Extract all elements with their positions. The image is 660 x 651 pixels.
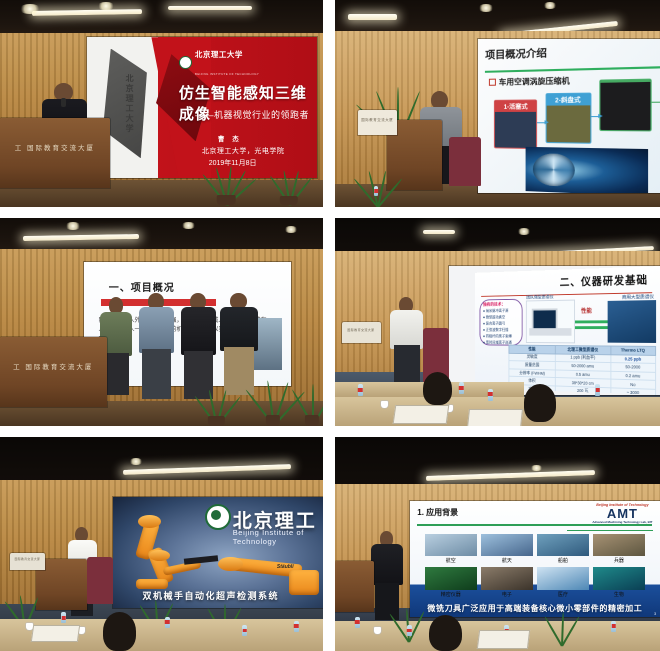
application-cell: 船舶	[537, 534, 589, 565]
water-bottle	[61, 612, 66, 623]
right-device-image	[608, 299, 656, 343]
ceiling	[0, 437, 323, 484]
application-cell: 航天	[481, 534, 533, 565]
bullet-square-icon	[489, 79, 496, 86]
audience-member	[423, 372, 452, 405]
photo-panel-3[interactable]: 一、项目概况 阿尔法机器人外骨骼助力增强，能够帮助穿戴人承担一种穿戴在人身上，和…	[0, 218, 323, 426]
photo-panel-4[interactable]: 二、仪器研发基础 独有的技术： 纳米脉冲离子源 微型超动真空 复合离子圆弓 正弦…	[335, 218, 660, 426]
plant-pot	[266, 415, 280, 426]
seal-icon	[205, 504, 231, 530]
application-cell: 精密仪器	[425, 567, 477, 598]
device-caption: 团队微型质谱仪	[526, 294, 553, 300]
tech-item: 复合离子圆弓	[483, 321, 522, 327]
water-bottle	[374, 186, 378, 196]
compressor-card-3-label: 3-螺杆式	[600, 79, 651, 83]
application-cell: 航空	[425, 534, 477, 565]
tech-item: 微型超动真空	[483, 314, 522, 320]
slide-rule-secondary	[567, 530, 652, 531]
compressor-card-3: 3-螺杆式	[599, 79, 652, 132]
venue-sign: 国际教育交流大厦	[358, 110, 397, 135]
table-cell: ~15公斤	[555, 394, 610, 395]
compressor-card-2-label: 2-斜盘式	[546, 94, 590, 106]
venue-sign-text: 工 国际教育交流大厦	[4, 142, 105, 152]
speaker-torso	[371, 544, 404, 585]
robot-base	[289, 570, 318, 594]
application-label: 电子	[481, 591, 533, 598]
device-base	[529, 328, 572, 335]
name-plate	[392, 405, 449, 424]
chair	[87, 557, 113, 604]
water-bottle	[488, 389, 493, 401]
person-torso	[139, 307, 175, 353]
performance-bars	[575, 320, 608, 332]
ceiling-spot	[530, 465, 543, 471]
slide-heading: 1. 应用背景	[417, 507, 458, 518]
person-legs	[104, 353, 129, 395]
application-cell: 兵器	[593, 534, 645, 565]
slide-page-number: 3	[654, 611, 656, 616]
podium	[335, 561, 374, 612]
ceiling-light	[423, 230, 456, 234]
robot-joint	[149, 550, 170, 561]
audience-member	[103, 612, 135, 651]
water-bottle	[294, 621, 299, 632]
robot-tool	[184, 555, 218, 564]
table-cell: ~ 3000	[610, 388, 655, 395]
slide-heading: 二、仪器研发基础	[559, 271, 647, 289]
projection-screen: 北京理工大学 北京理工大学 BEIJING INSTITUTE OF TECHN…	[87, 37, 316, 178]
application-image	[593, 567, 645, 589]
flow-arrow-icon	[591, 116, 599, 117]
compressor-card-1-label: 1-活塞式	[495, 101, 536, 112]
table-cell: 200 瓦	[555, 386, 610, 395]
person-torso	[181, 307, 217, 355]
microphone-icon	[61, 98, 66, 107]
university-logo: 北京理工大学 BEIJING INSTITUTE OF TECHNOLOGY	[179, 44, 259, 80]
venue-sign: 国际教育交流大厦	[10, 553, 46, 570]
slide-vertical-text: 北京理工大学	[124, 74, 135, 134]
plant	[194, 389, 239, 426]
application-label: 兵器	[593, 557, 645, 564]
speaker-torso	[390, 310, 423, 348]
ceiling-spot	[543, 2, 557, 9]
name-plate	[467, 409, 523, 426]
speaker-legs	[394, 345, 420, 387]
slide-heading: 项目概况介绍	[485, 44, 547, 62]
water-bottle	[358, 384, 363, 396]
venue-sign-text: 工 国际教育交流大厦	[4, 361, 102, 371]
exoskeleton-legs	[142, 349, 170, 399]
audience-member	[524, 384, 557, 421]
water-bottle	[595, 384, 600, 396]
logo-text: 北京理工大学	[195, 50, 243, 59]
photo-panel-6[interactable]: 1. 应用背景 Beijing Institute of Technology …	[335, 437, 660, 651]
application-cell: 医疗	[537, 567, 589, 598]
slide-logo-subtext: Beijing Institute of Technology	[233, 528, 323, 546]
slide-bullet: 车用空调涡旋压缩机	[489, 76, 570, 89]
plant	[540, 612, 582, 646]
slide-presenter: 曹 杰	[218, 133, 242, 143]
water-bottle	[407, 625, 412, 636]
tech-item: 四极杆的离子束缚	[483, 334, 522, 340]
stage-person-3	[181, 293, 217, 397]
application-label: 船舶	[537, 557, 589, 564]
slide-rule	[485, 66, 660, 72]
plant	[294, 384, 323, 426]
application-image	[593, 534, 645, 556]
name-plate	[477, 630, 530, 649]
amt-logo-main: AMT	[592, 507, 652, 520]
scroll-compressor-image	[526, 147, 648, 192]
application-label: 生物	[593, 591, 645, 598]
spiral-graphic	[533, 154, 575, 188]
projection-screen: 项目概况介绍 车用空调涡旋压缩机 1-活塞式 2-斜盘式 3-螺杆式	[478, 39, 660, 192]
ceiling-spot	[65, 222, 81, 230]
compressor-card-2: 2-斜盘式	[545, 93, 591, 144]
projection-screen: 1. 应用背景 Beijing Institute of Technology …	[410, 501, 660, 617]
photo-panel-5[interactable]: 北京理工 Beijing Institute of Technology Stä…	[0, 437, 323, 651]
application-cell: 生物	[593, 567, 645, 598]
application-image	[425, 567, 477, 589]
photo-collage: 北京理工大学 北京理工大学 BEIJING INSTITUTE OF TECHN…	[0, 0, 660, 640]
plant	[252, 380, 294, 426]
application-image	[481, 534, 533, 556]
robot-brand-label: Stäubli	[277, 564, 294, 570]
person-torso	[220, 307, 259, 351]
audience-member	[429, 615, 462, 651]
amt-lab-logo: Beijing Institute of Technology AMT Adva…	[592, 503, 652, 524]
slide-compressor: 项目概况介绍 车用空调涡旋压缩机 1-活塞式 2-斜盘式 3-螺杆式	[478, 39, 660, 192]
performance-label: 性能	[581, 306, 592, 315]
slide-robot-arms: 北京理工 Beijing Institute of Technology Stä…	[113, 497, 323, 608]
photo-panel-2[interactable]: 项目概况介绍 车用空调涡旋压缩机 1-活塞式 2-斜盘式 3-螺杆式	[335, 0, 660, 207]
tech-callout: 独有的技术： 纳米脉冲离子源 微型超动真空 复合离子圆弓 正弦波数字扫描 四极杆…	[480, 298, 523, 345]
plant-pot	[280, 196, 298, 205]
flow-arrow-icon	[537, 122, 545, 123]
venue-sign: 国际教育交流大厦	[342, 322, 381, 343]
chair	[449, 137, 482, 187]
plant-pot	[208, 416, 224, 426]
flow-arrow-icon	[652, 102, 660, 103]
compressor-card-1: 1-活塞式	[494, 100, 537, 150]
plant	[265, 170, 313, 205]
application-image	[425, 534, 477, 556]
person-legs	[224, 347, 253, 395]
ceiling-spot	[97, 2, 115, 10]
podium: 工 国际教育交流大厦	[0, 337, 107, 408]
application-image	[481, 567, 533, 589]
slide-bullet-text: 车用空调涡旋压缩机	[499, 76, 570, 89]
slide-banner-text: 微铣刀具广泛应用于高端装备核心微小零部件的精密加工	[410, 603, 660, 614]
ceiling	[335, 437, 660, 488]
speaker	[371, 531, 404, 617]
plant-pot	[217, 195, 236, 205]
speaker	[390, 297, 423, 384]
tech-callout-title: 独有的技术：	[483, 301, 522, 307]
ceiling-light	[348, 14, 397, 20]
water-bottle	[355, 617, 360, 628]
device-image	[526, 300, 575, 344]
slide-instrument: 二、仪器研发基础 独有的技术： 纳米脉冲离子源 微型超动真空 复合离子圆弓 正弦…	[475, 266, 660, 395]
photo-panel-1[interactable]: 北京理工大学 北京理工大学 BEIJING INSTITUTE OF TECHN…	[0, 0, 323, 207]
ceiling-light	[168, 6, 252, 10]
application-cell: 电子	[481, 567, 533, 598]
water-bottle	[459, 382, 464, 394]
tech-item: 正弦波数字扫描	[483, 327, 522, 333]
seal-icon	[179, 56, 192, 69]
slide-application: 1. 应用背景 Beijing Institute of Technology …	[410, 501, 660, 617]
logo-subtext: BEIJING INSTITUTE OF TECHNOLOGY	[195, 72, 259, 76]
slide-title: 北京理工大学 北京理工大学 BEIJING INSTITUTE OF TECHN…	[87, 37, 316, 178]
slide-subtitle-text: ——机器视觉行业的领跑者	[195, 108, 309, 121]
water-bottle	[165, 617, 170, 628]
projection-screen: 二、仪器研发基础 独有的技术： 纳米脉冲离子源 微型超动真空 复合离子圆弓 正弦…	[449, 266, 660, 395]
application-label: 航天	[481, 557, 533, 564]
plant-pot	[305, 415, 319, 426]
tech-item: 纳米脉冲离子源	[483, 308, 522, 314]
application-label: 航空	[425, 557, 477, 564]
application-image	[537, 567, 589, 589]
slide-affiliation: 北京理工大学，光电学院	[202, 146, 285, 156]
water-bottle	[242, 625, 247, 636]
application-label: 精密仪器	[425, 591, 477, 598]
plant	[200, 166, 252, 205]
water-bottle	[611, 621, 616, 632]
projection-screen: 北京理工 Beijing Institute of Technology Stä…	[113, 497, 323, 608]
stage-person-2	[139, 293, 175, 397]
application-image	[537, 534, 589, 556]
application-grid: 航空 航天 船舶 兵器	[425, 534, 645, 599]
slide-rule	[417, 524, 652, 526]
stage-person-4	[220, 293, 259, 393]
tea-cup	[381, 401, 388, 408]
application-label: 医疗	[537, 591, 589, 598]
podium: 工 国际教育交流大厦	[0, 118, 110, 188]
